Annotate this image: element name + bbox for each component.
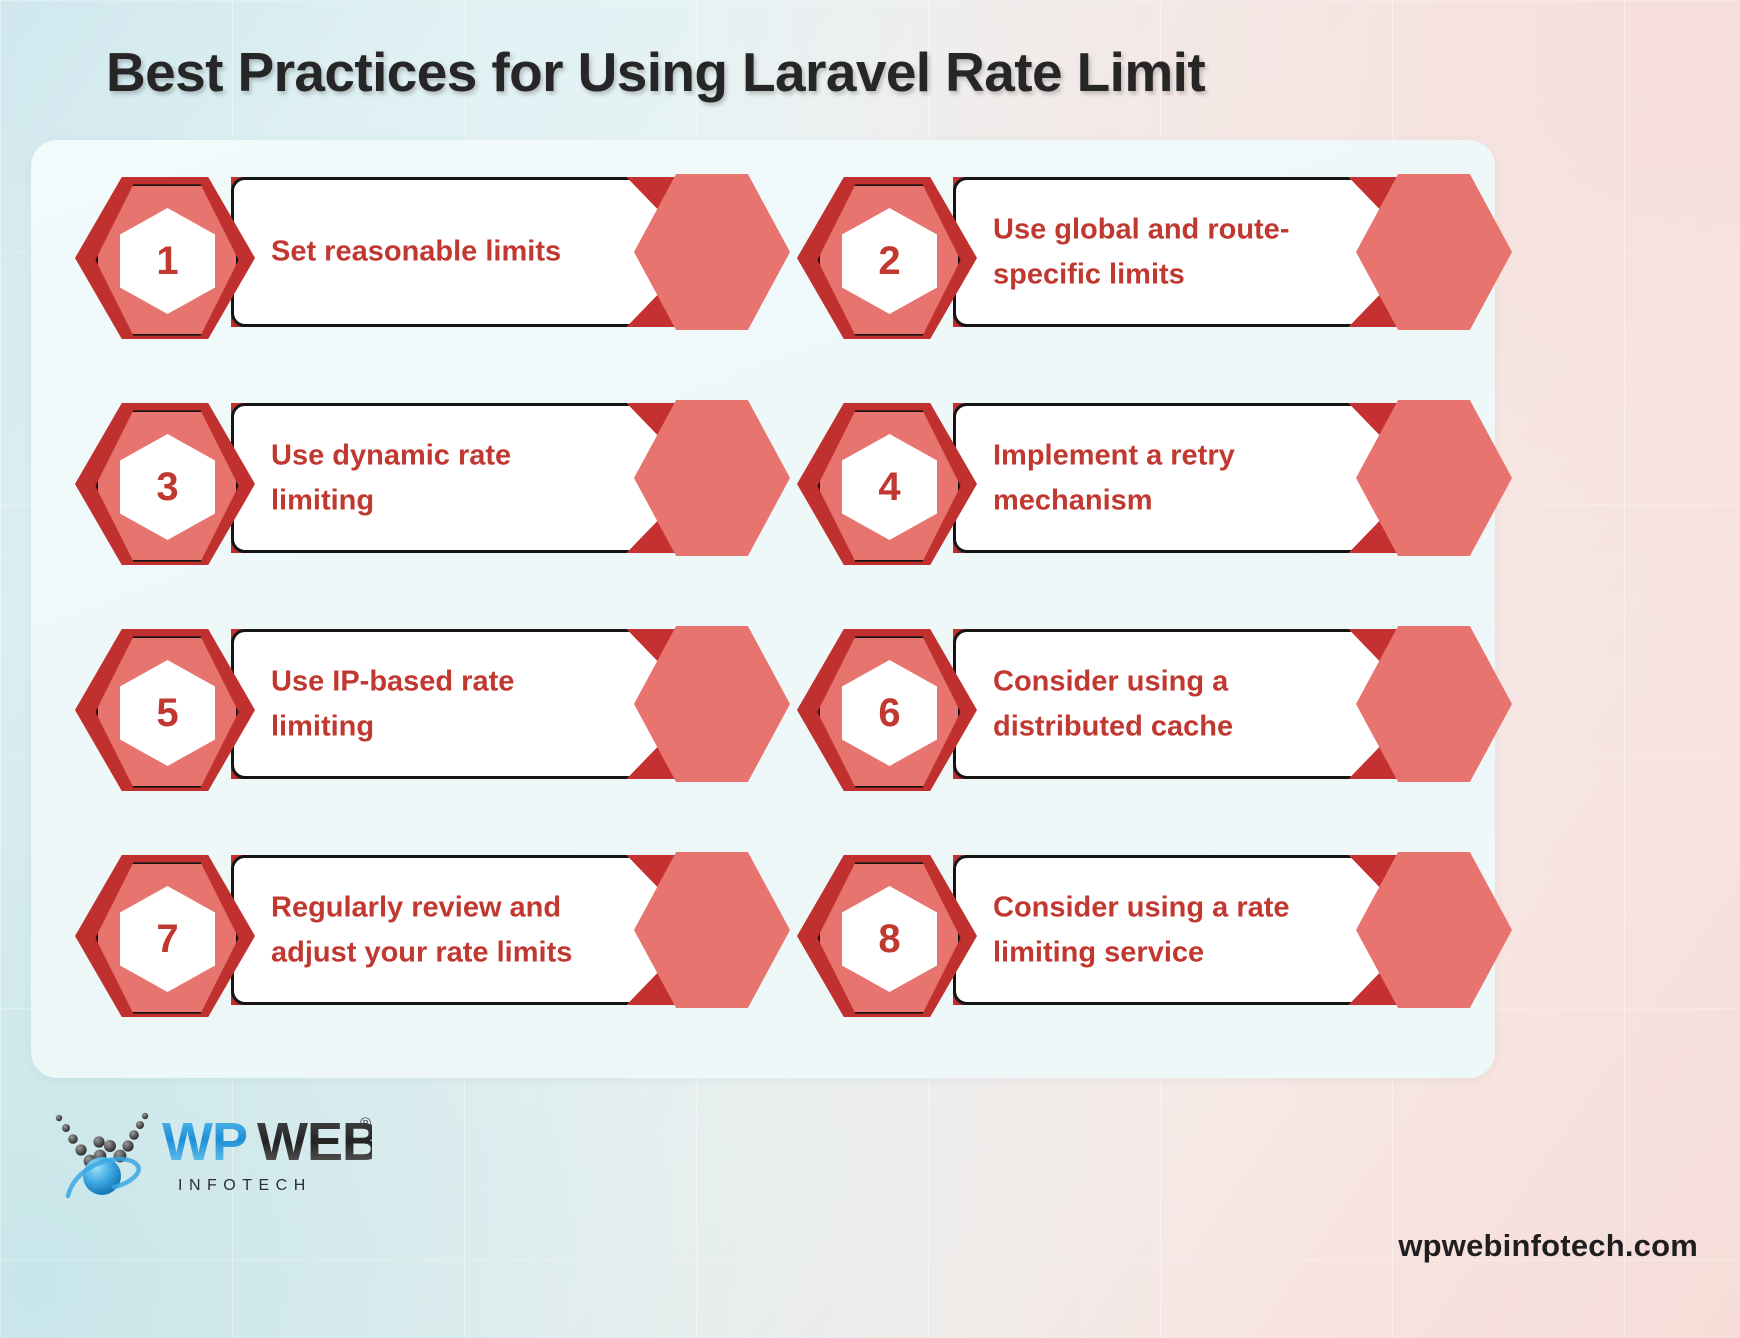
practice-number: 1 xyxy=(156,241,178,281)
practice-number-badge-4: 4 xyxy=(800,398,976,574)
practice-item-5[interactable]: Use IP-based rate limiting 5 xyxy=(78,624,768,790)
practice-label: Consider using a distributed cache xyxy=(993,659,1323,748)
practice-number: 5 xyxy=(156,693,178,733)
practice-item-7[interactable]: Regularly review and adjust your rate li… xyxy=(78,850,768,1016)
practice-item-1[interactable]: Set reasonable limits 1 xyxy=(78,172,768,338)
practice-number-badge-8: 8 xyxy=(800,850,976,1026)
practice-number-badge-3: 3 xyxy=(78,398,254,574)
practices-grid: Set reasonable limits 1 Use global and r… xyxy=(78,172,1498,1052)
practice-label: Use IP-based rate limiting xyxy=(271,659,601,748)
practice-bar-4: Implement a retry mechanism xyxy=(953,403,1490,553)
logo-registered-icon: ® xyxy=(360,1115,371,1132)
practice-number: 2 xyxy=(878,241,900,281)
practice-bar-2: Use global and route-specific limits xyxy=(953,177,1490,327)
practice-number-badge-5: 5 xyxy=(78,624,254,800)
practice-label: Implement a retry mechanism xyxy=(993,433,1323,522)
page-title: Best Practices for Using Laravel Rate Li… xyxy=(106,40,1205,104)
practice-bar-6: Consider using a distributed cache xyxy=(953,629,1490,779)
practice-number-badge-2: 2 xyxy=(800,172,976,348)
wpweb-logo-graphic: WP WEB ® INFOTECH xyxy=(42,1088,372,1208)
logo-web-text: WEB xyxy=(257,1112,372,1172)
practice-bar-8: Consider using a rate limiting service xyxy=(953,855,1490,1005)
practice-item-8[interactable]: Consider using a rate limiting service 8 xyxy=(800,850,1490,1016)
practice-label: Use dynamic rate limiting xyxy=(271,433,601,522)
practice-number: 4 xyxy=(878,467,900,507)
practice-number: 3 xyxy=(156,467,178,507)
practice-number-badge-1: 1 xyxy=(78,172,254,348)
practice-number-badge-7: 7 xyxy=(78,850,254,1026)
practice-item-3[interactable]: Use dynamic rate limiting 3 xyxy=(78,398,768,564)
practice-label: Use global and route-specific limits xyxy=(993,207,1323,296)
practice-number: 8 xyxy=(878,919,900,959)
practice-bar-3: Use dynamic rate limiting xyxy=(231,403,768,553)
practice-item-4[interactable]: Implement a retry mechanism 4 xyxy=(800,398,1490,564)
website-url[interactable]: wpwebinfotech.com xyxy=(1398,1228,1698,1264)
practice-label: Regularly review and adjust your rate li… xyxy=(271,885,601,974)
globe-icon xyxy=(68,1157,139,1196)
practice-number-badge-6: 6 xyxy=(800,624,976,800)
practice-item-2[interactable]: Use global and route-specific limits 2 xyxy=(800,172,1490,338)
logo-tagline-text: INFOTECH xyxy=(178,1177,312,1194)
practice-bar-7: Regularly review and adjust your rate li… xyxy=(231,855,768,1005)
practice-label: Set reasonable limits xyxy=(271,230,601,275)
practice-number: 6 xyxy=(878,693,900,733)
practice-bar-1: Set reasonable limits xyxy=(231,177,768,327)
practice-item-6[interactable]: Consider using a distributed cache 6 xyxy=(800,624,1490,790)
practice-label: Consider using a rate limiting service xyxy=(993,885,1323,974)
practice-bar-5: Use IP-based rate limiting xyxy=(231,629,768,779)
practice-number: 7 xyxy=(156,919,178,959)
wpweb-logo[interactable]: WP WEB ® INFOTECH xyxy=(42,1088,372,1208)
logo-wp-text: WP xyxy=(162,1112,247,1172)
